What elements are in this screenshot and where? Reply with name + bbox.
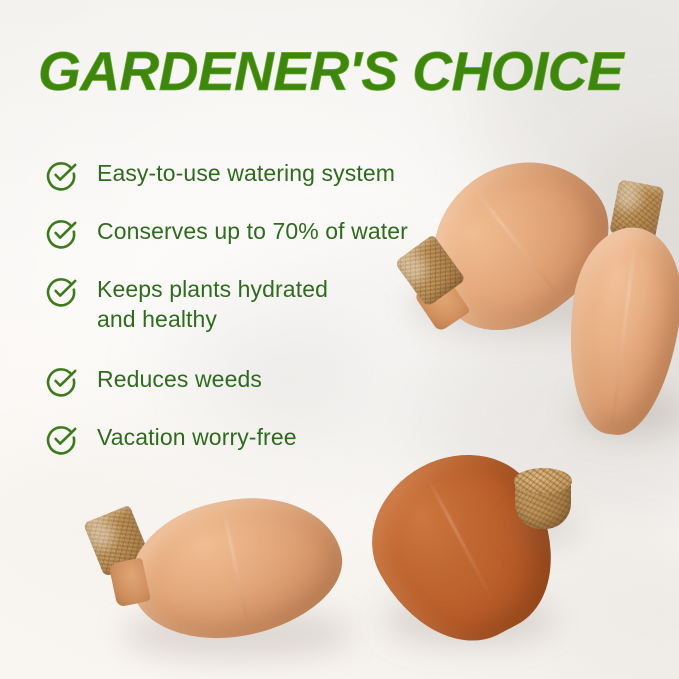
spike-body [558, 221, 679, 441]
list-item-label: Easy-to-use watering system [97, 158, 395, 188]
list-item-label: Keeps plants hydrated and healthy [97, 274, 328, 334]
list-item-label: Conserves up to 70% of water [97, 216, 408, 246]
cork-stopper-loose [510, 466, 578, 538]
spike-seam [611, 240, 636, 426]
list-item: Vacation worry-free [46, 422, 446, 456]
check-circle-icon [46, 159, 78, 191]
spike-seam [426, 476, 506, 623]
check-circle-icon [46, 423, 78, 455]
list-item-label: Reduces weeds [97, 364, 262, 394]
list-item: Conserves up to 70% of water [46, 216, 446, 250]
spike-seam [223, 509, 250, 629]
check-circle-icon [46, 217, 78, 249]
list-item: Keeps plants hydrated and healthy [46, 274, 446, 334]
terracotta-watering-spike-right [570, 183, 679, 443]
terracotta-watering-spike-bottom-left [92, 490, 352, 660]
list-item: Easy-to-use watering system [46, 158, 446, 192]
check-circle-icon [46, 275, 78, 307]
list-item-label: Vacation worry-free [97, 422, 297, 452]
feature-list: Easy-to-use watering system Conserves up… [46, 158, 446, 480]
page-title: GARDENER'S CHOICE [38, 40, 658, 102]
spike-seam [475, 190, 561, 299]
cork-top [514, 468, 572, 494]
spike-body-wrap [558, 221, 679, 441]
check-circle-icon [46, 365, 78, 397]
product-infographic: GARDENER'S CHOICE Easy-to-use watering s… [0, 0, 679, 679]
list-item: Reduces weeds [46, 364, 446, 398]
